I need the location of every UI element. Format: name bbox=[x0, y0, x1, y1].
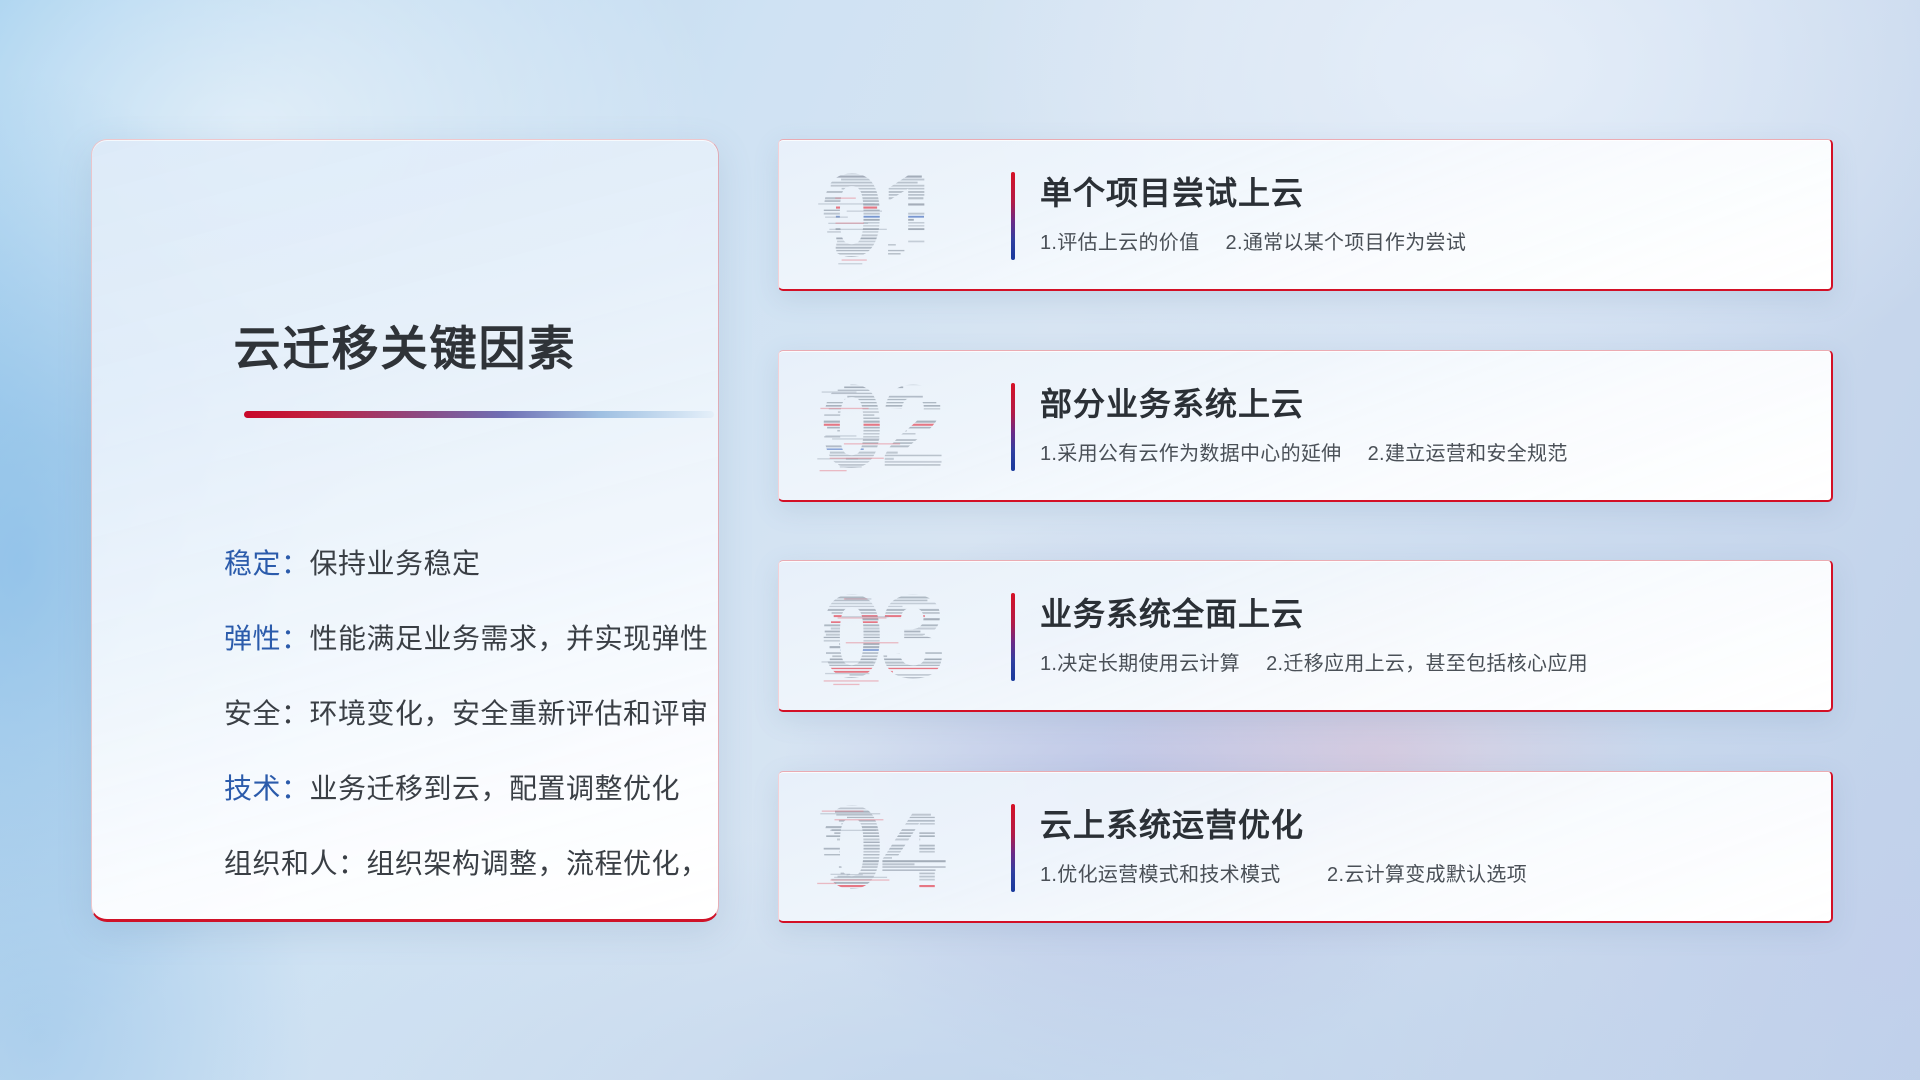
key-factor-label: 组织和人： bbox=[224, 848, 367, 879]
key-factors-title: 云迁移关键因素 bbox=[92, 310, 718, 379]
key-factor-label: 弹性： bbox=[224, 623, 310, 654]
key-factor-value: 性能满足业务需求，并实现弹性 bbox=[310, 623, 709, 654]
title-underline-rule bbox=[244, 411, 714, 418]
stage-number-02-icon: 02 bbox=[817, 367, 997, 487]
stage-points: 1.评估上云的价值 2.通常以某个项目作为尝试 bbox=[1040, 226, 1466, 255]
stage-points: 1.优化运营模式和技术模式 2.云计算变成默认选项 bbox=[1040, 858, 1527, 887]
key-factor-value: 业务迁移到云，配置调整优化 bbox=[310, 773, 681, 804]
stage-title: 单个项目尝试上云 bbox=[1040, 168, 1304, 214]
key-factor-label: 安全： bbox=[224, 698, 310, 729]
key-factor-row: 弹性：性能满足业务需求，并实现弹性 bbox=[224, 601, 690, 676]
stage-number-03-icon: 03 bbox=[817, 577, 997, 697]
key-factor-row: 人员技能培训 bbox=[224, 901, 690, 922]
key-factor-value: 组织架构调整，流程优化， bbox=[367, 848, 709, 879]
stage-number-01-icon: 01 bbox=[817, 156, 997, 276]
key-factor-value: 保持业务稳定 bbox=[310, 548, 481, 579]
stage-card-01[interactable]: 01 单个项目尝试上云 1.评估上云的价值 2.通常以某个项目作为尝试 bbox=[778, 139, 1833, 291]
stage-points: 1.采用公有云作为数据中心的延伸 2.建立运营和安全规范 bbox=[1040, 437, 1568, 466]
key-factors-list: 稳定：保持业务稳定弹性：性能满足业务需求，并实现弹性安全：环境变化，安全重新评估… bbox=[224, 526, 690, 922]
stage-number-04-icon: 04 bbox=[817, 788, 997, 908]
key-factor-label: 稳定： bbox=[224, 548, 310, 579]
stage-title: 业务系统全面上云 bbox=[1040, 589, 1304, 635]
stage-card-02[interactable]: 02 部分业务系统上云 1.采用公有云作为数据中心的延伸 2.建立运营和安全规范 bbox=[778, 350, 1833, 502]
stage-card-04[interactable]: 04 云上系统运营优化 1.优化运营模式和技术模式 2.云计算变成默认选项 bbox=[778, 771, 1833, 923]
key-factor-row: 技术：业务迁移到云，配置调整优化 bbox=[224, 751, 690, 826]
key-factor-label: 技术： bbox=[224, 773, 310, 804]
stage-title: 部分业务系统上云 bbox=[1040, 379, 1304, 425]
stage-accent-bar bbox=[1011, 383, 1015, 471]
key-factor-row: 组织和人：组织架构调整，流程优化， bbox=[224, 826, 690, 901]
key-factor-value: 环境变化，安全重新评估和评审 bbox=[310, 698, 709, 729]
key-factor-row: 安全：环境变化，安全重新评估和评审 bbox=[224, 676, 690, 751]
stage-points: 1.决定长期使用云计算 2.迁移应用上云，甚至包括核心应用 bbox=[1040, 647, 1588, 676]
stage-title: 云上系统运营优化 bbox=[1040, 800, 1304, 846]
stage-accent-bar bbox=[1011, 593, 1015, 681]
stage-accent-bar bbox=[1011, 172, 1015, 260]
key-factors-card: 云迁移关键因素 稳定：保持业务稳定弹性：性能满足业务需求，并实现弹性安全：环境变… bbox=[91, 139, 719, 922]
key-factor-row: 稳定：保持业务稳定 bbox=[224, 526, 690, 601]
stage-card-03[interactable]: 03 业务系统全面上云 1.决定长期使用云计算 2.迁移应用上云，甚至包括核心应… bbox=[778, 560, 1833, 712]
slide-stage: 云迁移关键因素 稳定：保持业务稳定弹性：性能满足业务需求，并实现弹性安全：环境变… bbox=[0, 0, 1920, 1080]
stage-accent-bar bbox=[1011, 804, 1015, 892]
